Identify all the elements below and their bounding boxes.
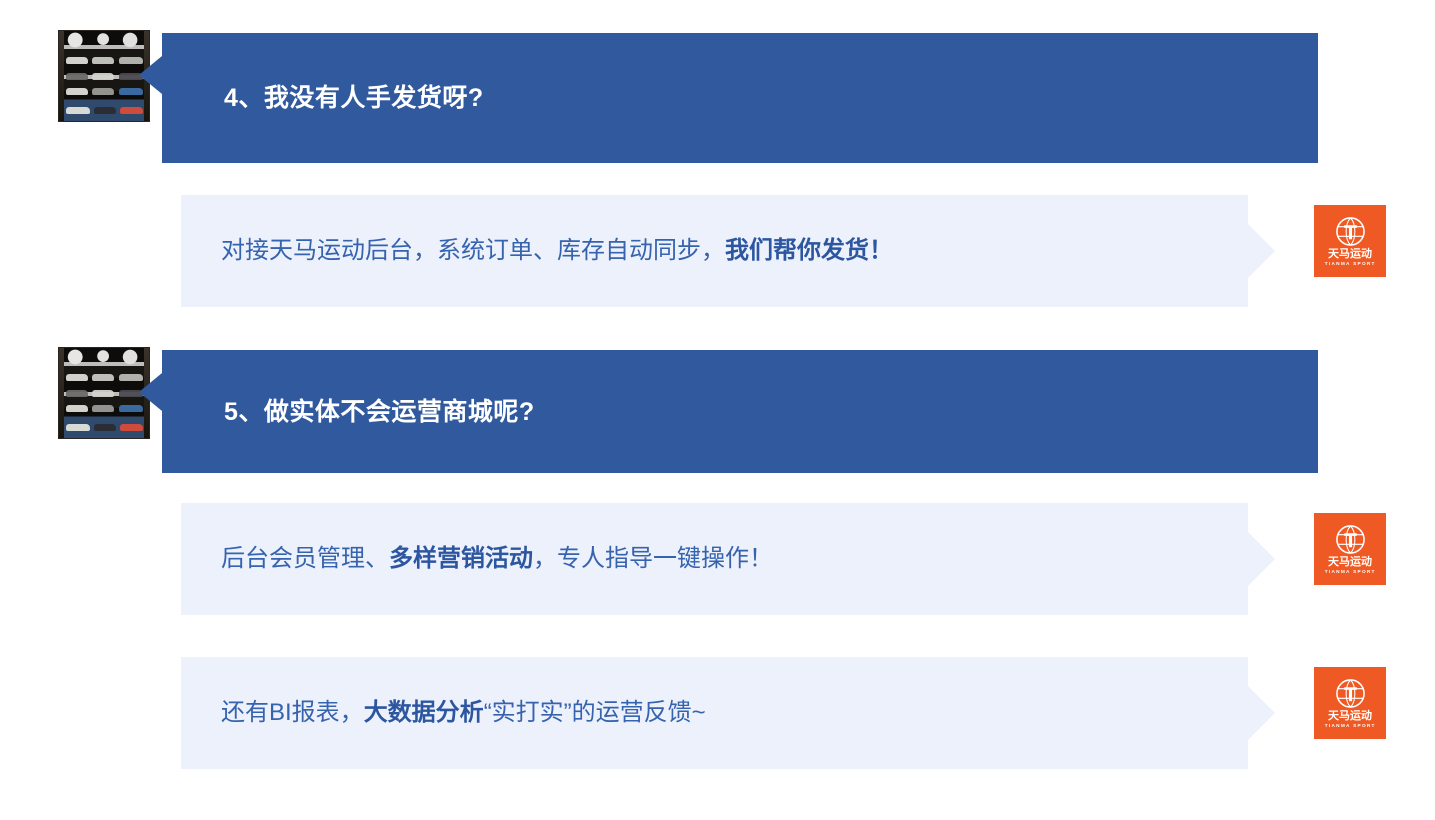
shoe-shelf-photo-1 — [58, 30, 150, 122]
shoe-shelf-photo-2 — [58, 347, 150, 439]
tianma-basketball-t-icon — [1335, 216, 1366, 247]
shoe — [94, 107, 116, 114]
shoe — [66, 390, 88, 397]
shoe — [66, 374, 88, 381]
brand-name-en-1: TIANMA SPORT — [1325, 262, 1376, 267]
shoe — [66, 73, 88, 80]
question-text-1: 4、我没有人手发货呀? — [162, 83, 484, 113]
tianma-basketball-t-icon — [1335, 524, 1366, 555]
answer-text-3: 还有BI报表，大数据分析“实打实”的运营反馈~ — [181, 697, 706, 728]
shoe — [92, 73, 114, 80]
shelf-rail-left — [59, 348, 64, 438]
answer-tip-arrow-icon — [1248, 532, 1275, 586]
brand-name-cn-3: 天马运动 — [1328, 711, 1372, 722]
brand-logo-badge-2: 天马运动 TIANMA SPORT — [1314, 513, 1386, 585]
tianma-basketball-t-icon — [1335, 678, 1366, 709]
shoe — [66, 57, 88, 64]
answer-text-2: 后台会员管理、多样营销活动，专人指导一键操作！ — [181, 543, 773, 574]
question-bar-2: 5、做实体不会运营商城呢? — [162, 350, 1318, 473]
shoe — [92, 88, 114, 95]
shoe — [92, 390, 114, 397]
answer-tip-arrow-icon — [1248, 224, 1275, 278]
question-text-2: 5、做实体不会运营商城呢? — [162, 397, 535, 427]
answer-text-1: 对接天马运动后台，系统订单、库存自动同步，我们帮你发货！ — [181, 235, 893, 266]
answer-bar-3: 还有BI报表，大数据分析“实打实”的运营反馈~ — [181, 657, 1248, 769]
shoe — [94, 424, 116, 431]
shoe — [66, 107, 90, 114]
shoe — [92, 405, 114, 412]
shelf-rail-left — [59, 31, 64, 121]
answer-bar-2: 后台会员管理、多样营销活动，专人指导一键操作！ — [181, 503, 1248, 615]
question-bar-1: 4、我没有人手发货呀? — [162, 33, 1318, 163]
question-tail-arrow-icon — [139, 373, 162, 411]
brand-name-en-2: TIANMA SPORT — [1325, 570, 1376, 575]
shoe — [92, 57, 114, 64]
shoe — [120, 424, 143, 431]
brand-logo-badge-3: 天马运动 TIANMA SPORT — [1314, 667, 1386, 739]
brand-name-cn-1: 天马运动 — [1328, 249, 1372, 260]
brand-name-cn-2: 天马运动 — [1328, 557, 1372, 568]
answer-bar-1: 对接天马运动后台，系统订单、库存自动同步，我们帮你发货！ — [181, 195, 1248, 307]
question-tail-arrow-icon — [139, 56, 162, 94]
shoe — [66, 405, 88, 412]
shoe — [66, 88, 88, 95]
shoe — [66, 424, 90, 431]
shoe — [120, 107, 143, 114]
answer-tip-arrow-icon — [1248, 686, 1275, 740]
brand-name-en-3: TIANMA SPORT — [1325, 724, 1376, 729]
shoe — [92, 374, 114, 381]
faq-slide: 4、我没有人手发货呀? 对接天马运动后台，系统订单、库存自动同步，我们帮你发货！… — [0, 0, 1435, 820]
brand-logo-badge-1: 天马运动 TIANMA SPORT — [1314, 205, 1386, 277]
